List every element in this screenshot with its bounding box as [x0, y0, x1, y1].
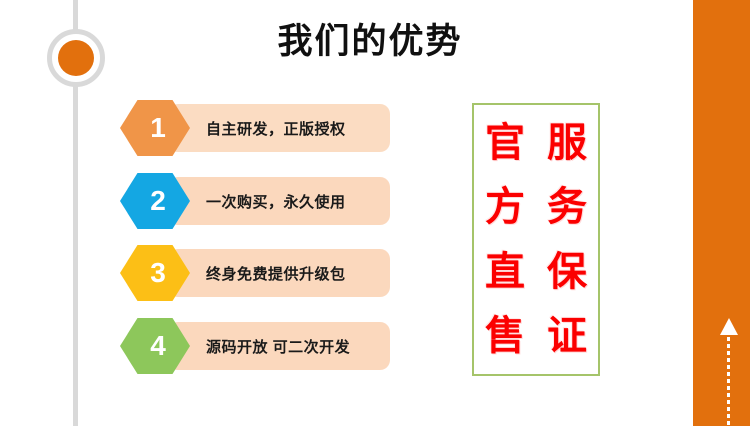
advantage-item-4: 4 源码开放 可二次开发 [120, 318, 390, 374]
slogan-row: 官 服 [474, 111, 598, 175]
advantage-label: 自主研发，正版授权 [206, 100, 346, 156]
slogan-char: 官 [485, 123, 525, 163]
slogan-row: 直 保 [474, 240, 598, 304]
advantage-label: 源码开放 可二次开发 [206, 318, 350, 374]
slogan-char: 服 [547, 123, 587, 163]
page-title: 我们的优势 [190, 20, 550, 64]
up-arrow-dotted-stem-icon [727, 337, 730, 426]
advantage-item-2: 2 一次购买，永久使用 [120, 173, 390, 229]
slogan-row: 售 证 [474, 304, 598, 368]
slogan-char: 证 [547, 316, 587, 356]
right-accent-band [693, 0, 750, 426]
advantage-number: 2 [144, 187, 166, 215]
timeline-dot-icon [58, 40, 94, 76]
advantage-number: 1 [144, 114, 166, 142]
up-arrow-icon [720, 318, 738, 335]
advantage-item-1: 1 自主研发，正版授权 [120, 100, 390, 156]
slogan-char: 保 [547, 252, 587, 292]
slide-canvas: 我们的优势 1 自主研发，正版授权 2 一次购买，永久使用 3 终身免费提供升级… [0, 0, 750, 426]
slogan-char: 直 [485, 252, 525, 292]
slogan-row: 方 务 [474, 175, 598, 239]
advantage-number: 3 [144, 259, 166, 287]
advantage-number: 4 [144, 332, 166, 360]
slogan-panel: 官 服 方 务 直 保 售 证 [472, 103, 600, 376]
slogan-char: 务 [547, 187, 587, 227]
advantage-label: 终身免费提供升级包 [206, 245, 346, 301]
advantage-item-3: 3 终身免费提供升级包 [120, 245, 390, 301]
slogan-char: 方 [485, 187, 525, 227]
advantage-label: 一次购买，永久使用 [206, 173, 346, 229]
slogan-char: 售 [485, 316, 525, 356]
